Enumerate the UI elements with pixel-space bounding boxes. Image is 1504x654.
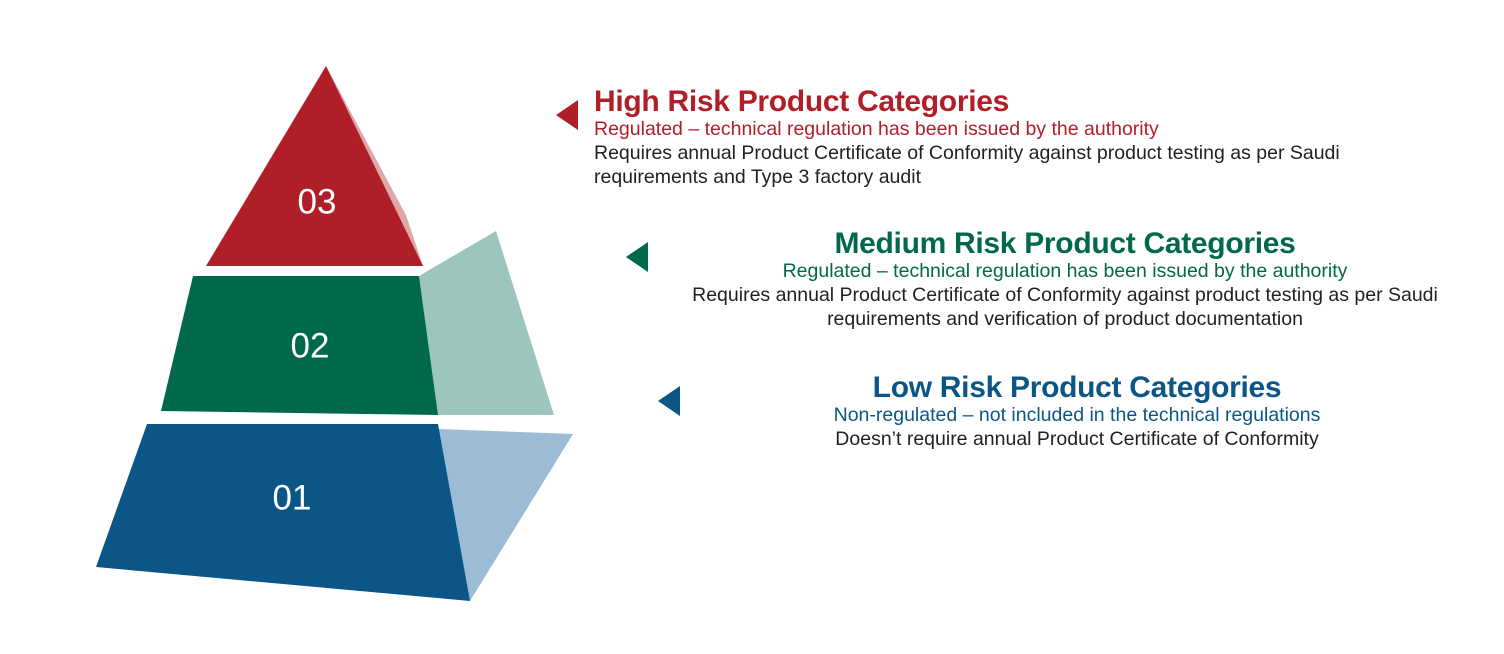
pyramid-tier-02-side-face: [419, 231, 554, 415]
medium-risk-text-cell: Medium Risk Product Categories Regulated…: [648, 228, 1466, 331]
low-risk-text-cell: Low Risk Product Categories Non-regulate…: [680, 372, 1458, 452]
pyramid-tier-03-front-face: [206, 66, 423, 266]
high-risk-title: High Risk Product Categories: [594, 86, 1466, 118]
high-risk-text-cell: High Risk Product Categories Regulated –…: [578, 86, 1466, 189]
pyramid-tier-01-number: 01: [273, 478, 312, 517]
left-triangle-icon: [658, 386, 680, 416]
pyramid-tier-03-number: 03: [298, 182, 337, 221]
low-risk-subtitle: Non-regulated – not included in the tech…: [696, 405, 1458, 427]
risk-block-high: High Risk Product Categories Regulated –…: [556, 86, 1466, 189]
medium-risk-description: Requires annual Product Certificate of C…: [670, 284, 1460, 331]
medium-risk-subtitle: Regulated – technical regulation has bee…: [664, 261, 1466, 283]
medium-risk-arrow-cell: [626, 228, 648, 272]
high-risk-arrow-cell: [556, 86, 578, 130]
pyramid-svg: 01 02 03: [0, 0, 620, 654]
risk-block-low: Low Risk Product Categories Non-regulate…: [658, 372, 1458, 452]
pyramid-tier-02-number: 02: [291, 326, 330, 365]
low-risk-arrow-cell: [658, 372, 680, 416]
left-triangle-icon: [556, 100, 578, 130]
risk-block-medium: Medium Risk Product Categories Regulated…: [626, 228, 1466, 331]
high-risk-description: Requires annual Product Certificate of C…: [594, 142, 1424, 189]
infographic-canvas: 01 02 03 High Risk Product Categories Re…: [0, 0, 1504, 654]
medium-risk-title: Medium Risk Product Categories: [664, 228, 1466, 260]
left-triangle-icon: [626, 242, 648, 272]
high-risk-subtitle: Regulated – technical regulation has bee…: [594, 119, 1466, 141]
low-risk-description: Doesn’t require annual Product Certifica…: [697, 428, 1457, 451]
risk-descriptions-panel: High Risk Product Categories Regulated –…: [548, 0, 1504, 654]
low-risk-title: Low Risk Product Categories: [696, 372, 1458, 404]
risk-pyramid-graphic: 01 02 03: [0, 0, 620, 654]
